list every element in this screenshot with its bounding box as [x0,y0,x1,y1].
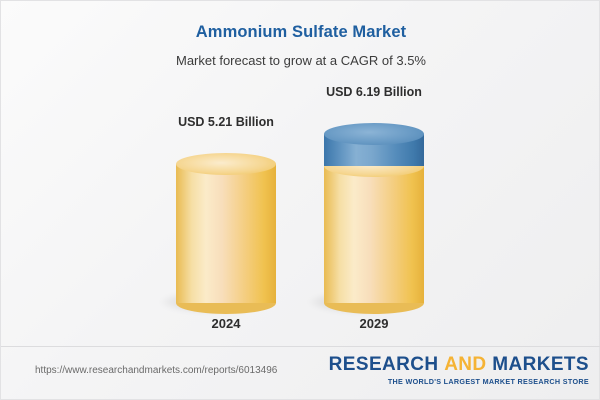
brand-word-and: AND [444,354,486,375]
bar-2024-body [176,164,276,303]
brand-word-markets: MARKETS [492,354,589,375]
category-label-2024: 2024 [146,316,306,331]
page-title: Ammonium Sulfate Market [1,23,600,42]
bar-2024-cap [176,153,276,175]
bar-2029-cap [324,123,424,145]
bar-group-2024: USD 5.21 Billion 2024 [146,86,306,336]
footer: https://www.researchandmarkets.com/repor… [1,347,600,400]
bar-2024[interactable] [176,153,276,303]
value-label-2029: USD 6.19 Billion [294,85,454,99]
brand-wordmark: RESEARCH AND MARKETS [329,355,589,374]
brand-word-research: RESEARCH [329,354,439,375]
brand-logo[interactable]: RESEARCH AND MARKETS THE WORLD'S LARGEST… [329,355,589,385]
brand-tagline: THE WORLD'S LARGEST MARKET RESEARCH STOR… [329,378,589,385]
chart-subtitle: Market forecast to grow at a CAGR of 3.5… [1,53,600,68]
bar-2029-segment-base [324,166,424,303]
source-url-link[interactable]: https://www.researchandmarkets.com/repor… [35,365,277,376]
market-infographic: Ammonium Sulfate Market Market forecast … [0,0,600,400]
bar-2029[interactable] [324,123,424,303]
chart-plot-area: USD 5.21 Billion 2024 USD 6.19 Billion 2… [1,86,600,336]
value-label-2024: USD 5.21 Billion [146,115,306,129]
category-label-2029: 2029 [294,316,454,331]
bar-group-2029: USD 6.19 Billion 2029 [294,86,454,336]
